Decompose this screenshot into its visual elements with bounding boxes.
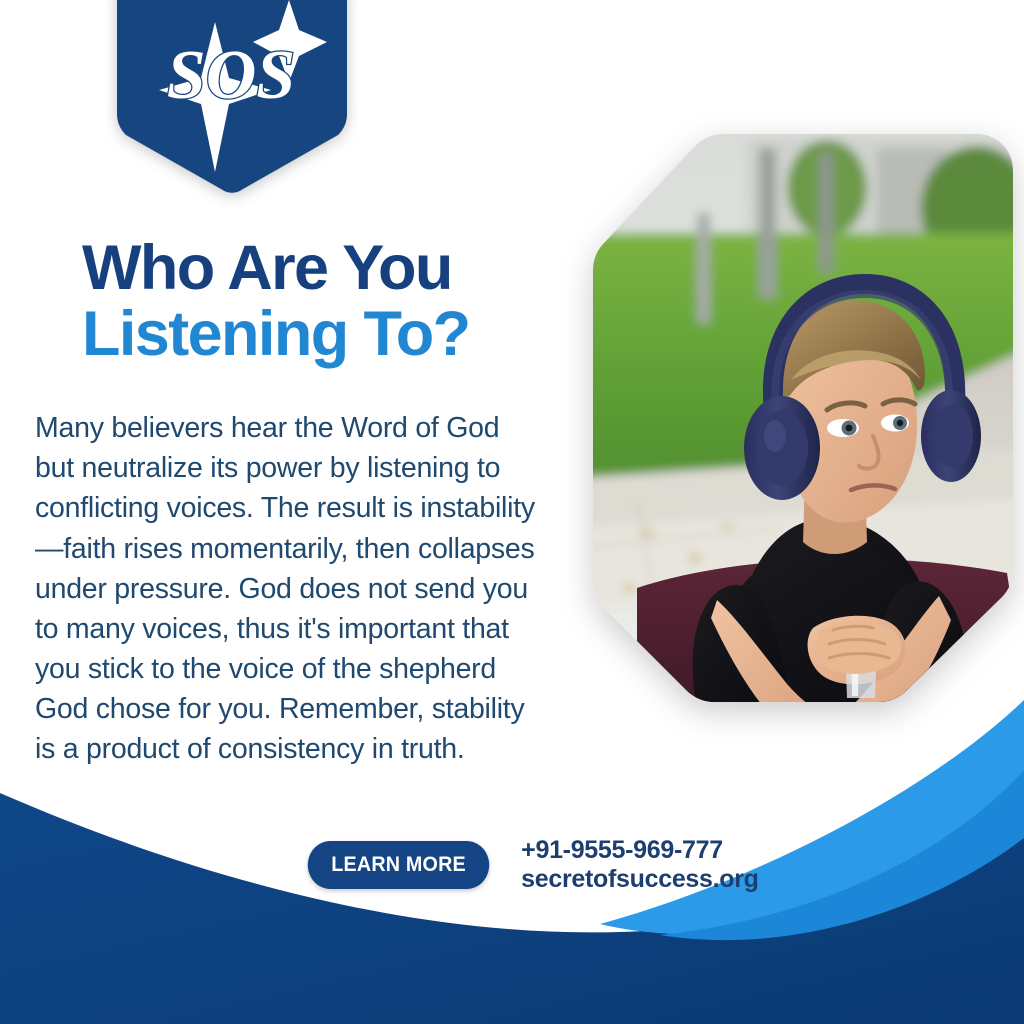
page-title: Who Are You Listening To? (82, 238, 552, 365)
contact-phone[interactable]: +91-9555-969-777 (521, 836, 758, 865)
contact-website[interactable]: secretofsuccess.org (521, 865, 758, 894)
photo-image (577, 118, 1024, 718)
contact-info: +91-9555-969-777 secretofsuccess.org (521, 836, 758, 895)
logo-wordmark: SOS (167, 37, 295, 114)
body-paragraph: Many believers hear the Word of God but … (35, 408, 545, 770)
photo-frame-icon (577, 118, 1024, 718)
footer-bar: LEARN MORE +91-9555-969-777 secretofsucc… (302, 836, 759, 895)
headline-line-2: Listening To? (82, 304, 552, 366)
headline-line-1: Who Are You (82, 238, 552, 300)
brand-logo[interactable]: SOS (103, 0, 361, 198)
photo-card (577, 118, 1024, 718)
wave-bright-blue (600, 700, 1024, 935)
wave-navy-base (0, 786, 1024, 1024)
poster-canvas: SOS Who Are You Listening To? Many belie… (0, 0, 1024, 1024)
sos-star-logo-icon: SOS (103, 0, 361, 198)
learn-more-button[interactable]: LEARN MORE (308, 841, 490, 889)
